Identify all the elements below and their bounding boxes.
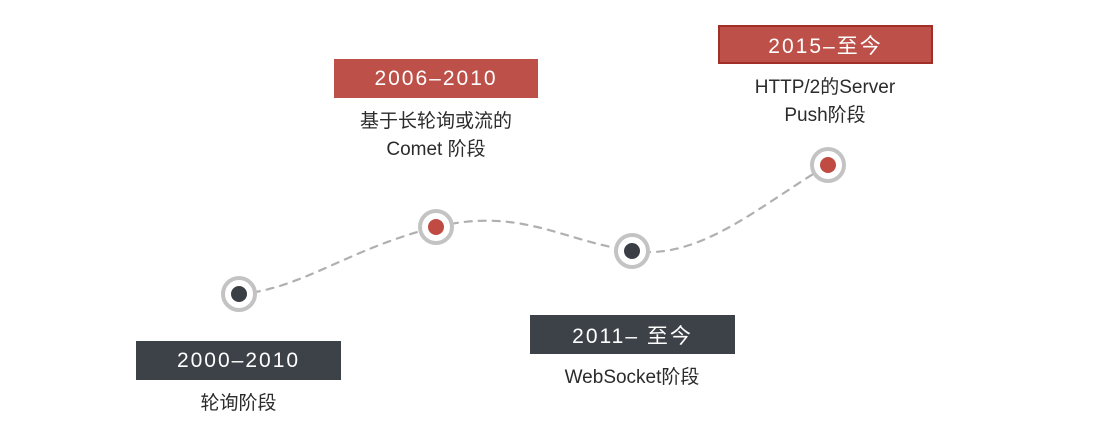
milestone-marker-websocket[interactable] [614,233,650,269]
milestone-badge-label: 2006–2010 [374,67,497,91]
milestone-caption-comet: 基于长轮询或流的 Comet 阶段 [326,108,546,164]
milestone-badge-label: 2000–2010 [177,349,300,373]
marker-dot-icon [820,157,836,173]
milestone-badge-http2-server-push[interactable]: 2015–至今 [718,25,933,64]
milestone-badge-comet[interactable]: 2006–2010 [334,59,538,98]
milestone-marker-comet[interactable] [418,209,454,245]
milestone-badge-polling[interactable]: 2000–2010 [136,341,341,380]
milestone-badge-label: 2015–至今 [768,30,882,60]
connector-dashed-path [239,165,828,294]
milestone-badge-websocket[interactable]: 2011– 至今 [530,315,735,354]
milestone-marker-http2-server-push[interactable] [810,147,846,183]
marker-dot-icon [428,219,444,235]
milestone-caption-websocket: WebSocket阶段 [522,364,742,392]
timeline-diagram: 2000–2010 轮询阶段 2006–2010 基于长轮询或流的 Comet … [0,0,1098,423]
milestone-marker-polling[interactable] [221,276,257,312]
marker-dot-icon [624,243,640,259]
milestone-caption-http2-server-push: HTTP/2的Server Push阶段 [715,74,935,130]
marker-dot-icon [231,286,247,302]
milestone-caption-polling: 轮询阶段 [136,390,341,418]
milestone-badge-label: 2011– 至今 [572,320,693,350]
